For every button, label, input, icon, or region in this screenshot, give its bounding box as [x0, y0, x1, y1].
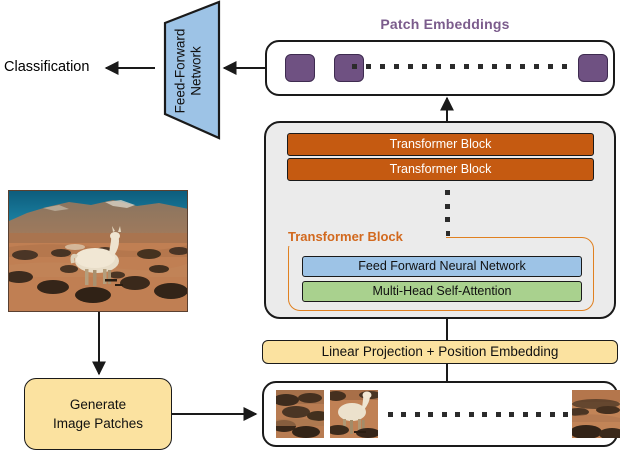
- patch-embedding-tile-n[interactable]: [578, 54, 608, 82]
- ellipsis-dot: [469, 412, 474, 417]
- ellipsis-dot: [523, 412, 528, 417]
- image-patch-1[interactable]: [276, 390, 324, 438]
- ellipsis-dot: [442, 412, 447, 417]
- ellipsis-dot: [352, 64, 357, 69]
- feed-forward-neural-network-layer[interactable]: Feed Forward Neural Network: [302, 256, 582, 277]
- ellipsis-dot: [563, 412, 568, 417]
- ellipsis-dot: [562, 64, 567, 69]
- ellipsis-dot: [401, 412, 406, 417]
- generate-patches-line2: Image Patches: [53, 414, 143, 433]
- ellipsis-dot: [464, 64, 469, 69]
- vertical-ellipsis-dot: [445, 217, 450, 222]
- image-patches-ellipsis: [388, 412, 568, 420]
- ellipsis-dot: [394, 64, 399, 69]
- ellipsis-dot: [482, 412, 487, 417]
- vit-architecture-diagram: Generate Image Patches Feed-Forward Netw…: [0, 0, 640, 456]
- image-patch-2[interactable]: [330, 390, 378, 438]
- transformer-block-detail-label: Transformer Block: [286, 228, 446, 246]
- ellipsis-dot: [496, 412, 501, 417]
- ellipsis-dot: [492, 64, 497, 69]
- ellipsis-dot: [550, 412, 555, 417]
- generate-patches-line1: Generate: [70, 395, 126, 414]
- generate-image-patches-box[interactable]: Generate Image Patches: [24, 378, 172, 450]
- classification-output-label: Classification: [4, 56, 134, 78]
- ellipsis-dot: [506, 64, 511, 69]
- vertical-ellipsis-dot: [445, 204, 450, 209]
- ellipsis-dot: [408, 64, 413, 69]
- ellipsis-dot: [388, 412, 393, 417]
- ff-line2: Network: [188, 46, 203, 96]
- patch-embeddings-title: Patch Embeddings: [320, 14, 570, 34]
- transformer-block-bar-1[interactable]: Transformer Block: [287, 133, 594, 156]
- ff-line1: Feed-Forward: [172, 29, 187, 114]
- ellipsis-dot: [536, 412, 541, 417]
- image-patch-n[interactable]: [572, 390, 620, 438]
- transformer-block-bar-2[interactable]: Transformer Block: [287, 158, 594, 181]
- ellipsis-dot: [428, 412, 433, 417]
- ellipsis-dot: [366, 64, 371, 69]
- patch-embeddings-ellipsis: [352, 64, 567, 72]
- vertical-ellipsis-dot: [445, 190, 450, 195]
- ellipsis-dot: [548, 64, 553, 69]
- patch-embedding-tile-1[interactable]: [285, 54, 315, 82]
- linear-projection-position-embedding-box[interactable]: Linear Projection + Position Embedding: [262, 340, 618, 364]
- feed-forward-network-label: Feed-Forward Network: [155, 0, 221, 142]
- ellipsis-dot: [436, 64, 441, 69]
- ellipsis-dot: [415, 412, 420, 417]
- ellipsis-dot: [520, 64, 525, 69]
- ellipsis-dot: [422, 64, 427, 69]
- multi-head-self-attention-layer[interactable]: Multi-Head Self-Attention: [302, 281, 582, 302]
- ellipsis-dot: [380, 64, 385, 69]
- source-image: [8, 190, 188, 312]
- ellipsis-dot: [455, 412, 460, 417]
- ellipsis-dot: [534, 64, 539, 69]
- ellipsis-dot: [478, 64, 483, 69]
- ellipsis-dot: [509, 412, 514, 417]
- ellipsis-dot: [450, 64, 455, 69]
